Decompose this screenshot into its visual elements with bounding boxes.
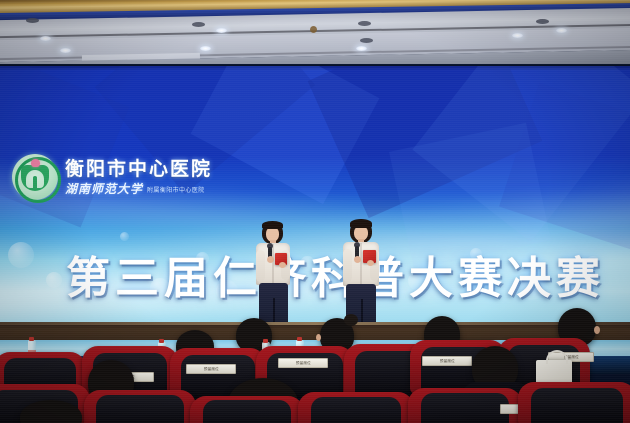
- bottle-cap: [29, 337, 34, 341]
- downlight-icon: [356, 46, 367, 51]
- ceiling-speaker-icon: [358, 21, 371, 26]
- ceiling-dome-camera-icon: [310, 26, 317, 33]
- seat-cushion: [203, 400, 292, 423]
- bubble-decoration: [8, 242, 34, 268]
- theater-seat: [298, 392, 414, 423]
- seat-name-card: 预留席位: [278, 358, 328, 368]
- seat-name-text: 预留席位: [203, 366, 218, 371]
- theater-seat: [190, 396, 304, 423]
- affiliation-note: 附属衡阳市中心医院: [147, 188, 205, 195]
- presenter-arm-left: [256, 250, 265, 282]
- audience-ear: [316, 334, 321, 341]
- seat-name-card: 预留席位: [422, 356, 472, 366]
- presenter-hand-left: [354, 256, 361, 263]
- bottle-cap: [159, 339, 164, 343]
- bottle-cap: [263, 339, 268, 343]
- presenter-hand-right: [279, 262, 286, 268]
- theater-seat: [84, 390, 196, 423]
- presenter-hand-left: [267, 256, 274, 263]
- seat-name-text: 预留席位: [295, 360, 310, 365]
- hospital-name-block: 衡阳市中心医院 湖南师范大学 附属衡阳市中心医院: [65, 160, 212, 195]
- hospital-logo-lockup: 衡阳市中心医院 湖南师范大学 附属衡阳市中心医院: [12, 154, 212, 200]
- ceiling-speaker-icon: [360, 38, 373, 43]
- university-name: 湖南师范大学: [65, 183, 143, 195]
- ceiling: [0, 0, 630, 64]
- presenter-shirt-placket: [360, 243, 362, 285]
- ceiling-speaker-icon: [26, 18, 39, 23]
- hospital-emblem-icon: [12, 154, 58, 200]
- presenter-arm-left: [343, 249, 352, 282]
- hair-bun: [344, 314, 358, 326]
- presenter-fringe: [262, 221, 283, 229]
- emblem-stem: [33, 176, 37, 190]
- seat-cushion: [531, 388, 623, 423]
- ceiling-speaker-icon: [192, 22, 205, 27]
- seat-cushion: [311, 397, 401, 423]
- stage-edge-highlight: [0, 322, 630, 325]
- downlight-icon: [556, 28, 567, 33]
- seat-name-text: 预留席位: [439, 358, 454, 363]
- emblem-heart-icon: [31, 159, 40, 167]
- event-title: 第三届仁济科普大赛决赛: [66, 242, 605, 306]
- hospital-affiliation-row: 湖南师范大学 附属衡阳市中心医院: [65, 183, 212, 195]
- seat-name-card: 预留席位: [186, 364, 236, 374]
- downlight-icon: [40, 36, 51, 41]
- hospital-name: 衡阳市中心医院: [65, 160, 212, 179]
- ceiling-speaker-icon: [536, 19, 549, 24]
- bottle-cap: [297, 337, 302, 341]
- led-stage-screen: 衡阳市中心医院 湖南师范大学 附属衡阳市中心医院 第三届仁济科普大赛决赛: [0, 66, 630, 328]
- seat-cushion: [96, 395, 183, 423]
- seat-cushion: [421, 393, 510, 423]
- downlight-icon: [60, 48, 71, 53]
- presenter-hand-right: [367, 260, 374, 266]
- downlight-icon: [200, 46, 211, 51]
- downlight-icon: [216, 28, 227, 33]
- presenter-fringe: [350, 219, 372, 228]
- conference-hall-photo: 衡阳市中心医院 湖南师范大学 附属衡阳市中心医院 第三届仁济科普大赛决赛: [0, 0, 630, 423]
- bubble-decoration: [46, 272, 62, 288]
- audience-ear: [594, 326, 600, 334]
- downlight-icon: [512, 33, 523, 38]
- presenter-shirt-placket: [272, 244, 274, 284]
- theater-seat: [518, 382, 630, 423]
- bubble-decoration: [120, 232, 129, 241]
